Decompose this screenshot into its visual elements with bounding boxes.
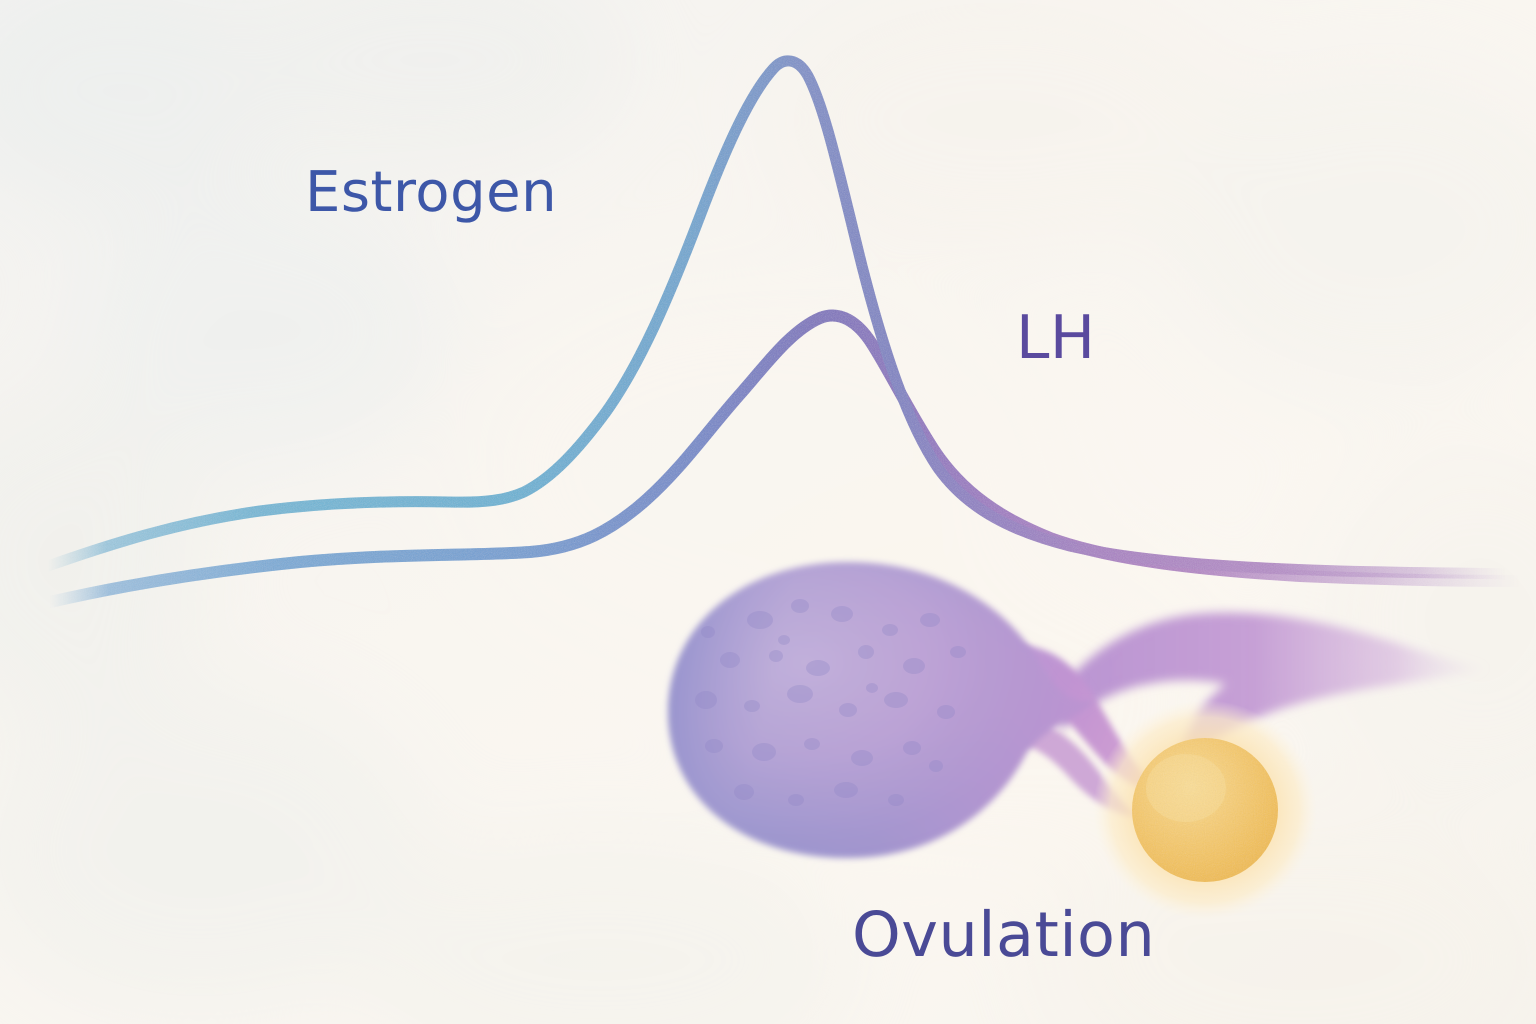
lh-curve	[50, 316, 1520, 602]
hormone-curves	[0, 0, 1536, 1024]
illustration-canvas: Estrogen LH Ovulation	[0, 0, 1536, 1024]
estrogen-curve	[48, 61, 1506, 574]
